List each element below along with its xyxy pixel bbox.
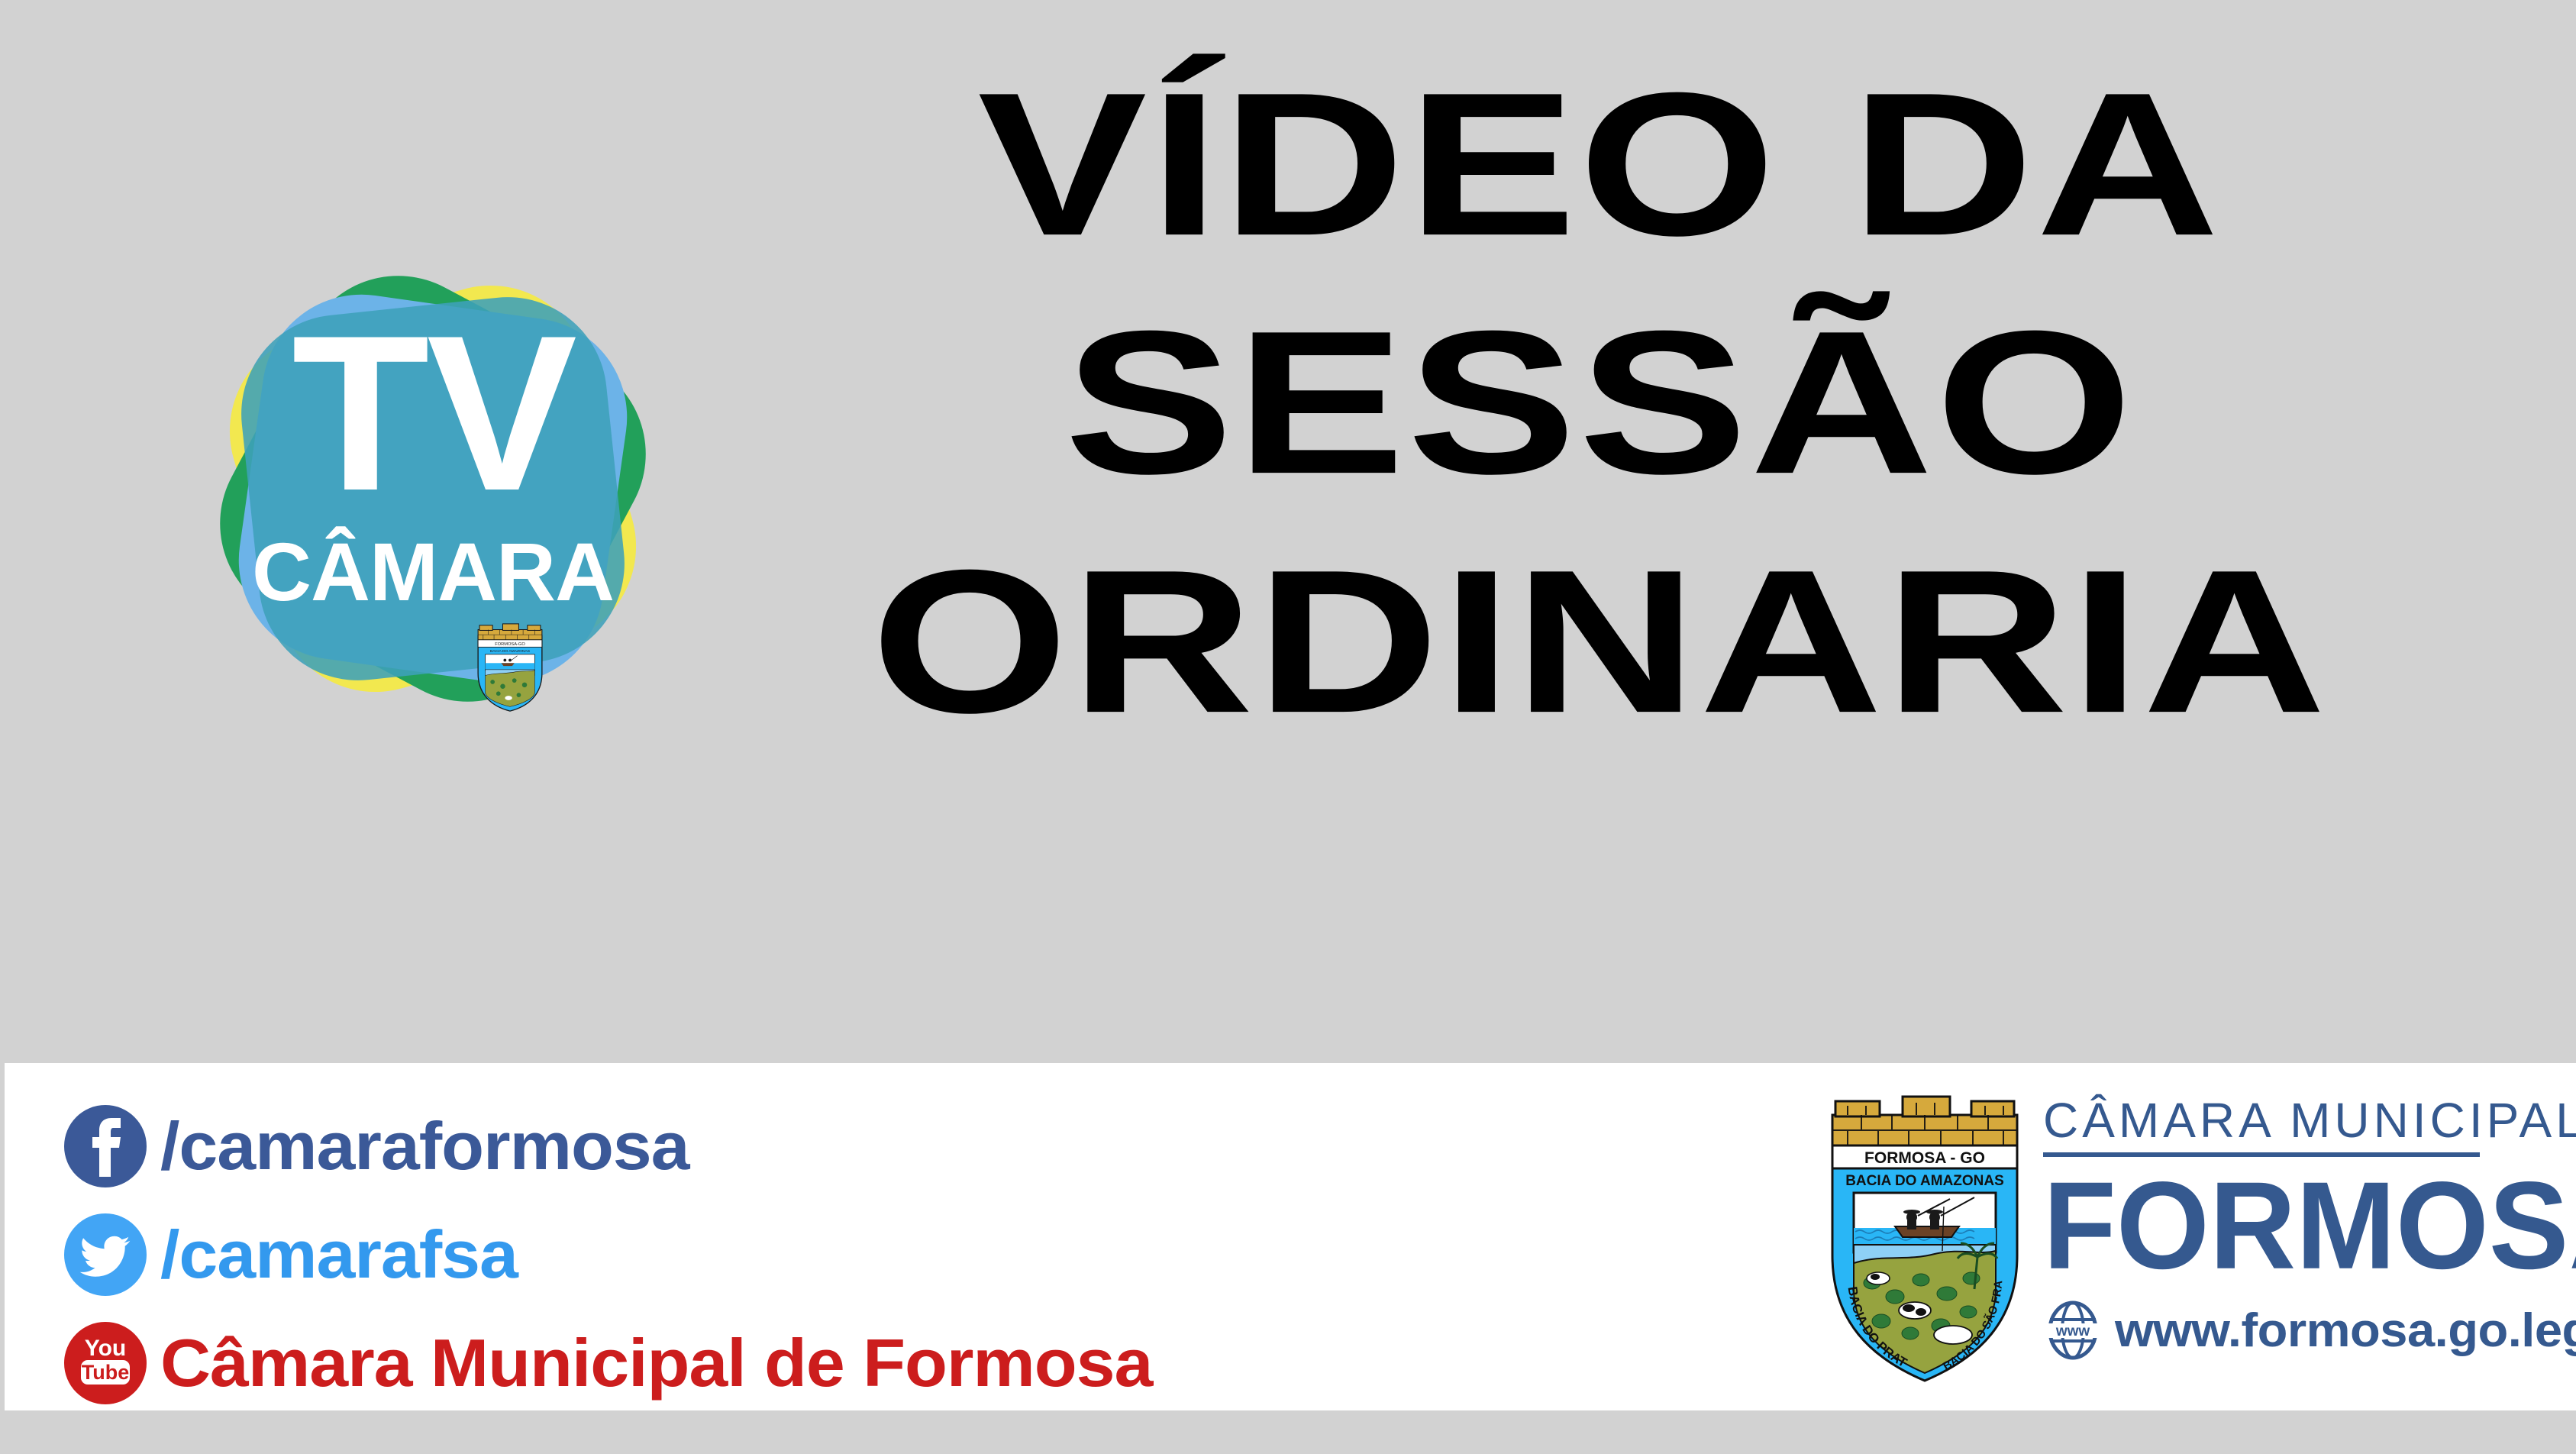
social-row-facebook[interactable]: /camaraformosa <box>64 1092 1114 1200</box>
www-globe-icon: www <box>2043 1301 2103 1360</box>
svg-text:www: www <box>2055 1323 2090 1339</box>
social-row-twitter[interactable]: /camarafsa <box>64 1200 1114 1309</box>
social-links-list: /camaraformosa /camarafsa You Tube <box>64 1092 1114 1417</box>
website-row[interactable]: www www.formosa.go.leg.br <box>2043 1301 2494 1360</box>
svg-text:You: You <box>85 1336 126 1361</box>
youtube-icon[interactable]: You Tube <box>64 1322 147 1404</box>
page-title: VÍDEO DA SESSÃO ORDINARIA <box>710 46 2489 761</box>
facebook-icon[interactable] <box>64 1105 147 1187</box>
brand-line-formosa: FORMOSA <box>2043 1162 2520 1291</box>
title-line-2: SESSÃO <box>425 277 2576 530</box>
shield-basin-top-label: BACIA DO AMAZONAS <box>1845 1173 2004 1189</box>
footer-section: /camaraformosa /camarafsa You Tube <box>5 1063 2576 1410</box>
title-line-1: VÍDEO DA <box>425 39 2576 292</box>
youtube-channel-label[interactable]: Câmara Municipal de Formosa <box>160 1324 1152 1402</box>
bottom-gray-strip <box>0 1410 2576 1454</box>
social-row-youtube[interactable]: You Tube Câmara Municipal de Formosa <box>64 1309 1114 1417</box>
svg-text:Tube: Tube <box>82 1361 130 1384</box>
title-line-3: ORDINARIA <box>425 516 2576 769</box>
shield-city-label: FORMOSA - GO <box>1864 1149 1985 1167</box>
brand-line-camara-municipal: CÂMARA MUNICIPAL <box>2043 1095 2494 1146</box>
coat-of-arms-icon: FORMOSA - GO BACIA DO AMAZONAS <box>1822 1092 2028 1390</box>
hero-section: TV CÂMARA <box>0 0 2576 1063</box>
twitter-icon[interactable] <box>64 1213 147 1296</box>
facebook-handle-label[interactable]: /camaraformosa <box>160 1107 689 1185</box>
brand-wordmark: CÂMARA MUNICIPAL FORMOSA www www.formosa… <box>2043 1095 2494 1360</box>
website-url-label[interactable]: www.formosa.go.leg.br <box>2115 1304 2576 1358</box>
twitter-handle-label[interactable]: /camarafsa <box>160 1216 518 1294</box>
camara-formosa-brand: FORMOSA - GO BACIA DO AMAZONAS <box>1822 1084 2494 1390</box>
poster-canvas: TV CÂMARA <box>0 0 2576 1454</box>
